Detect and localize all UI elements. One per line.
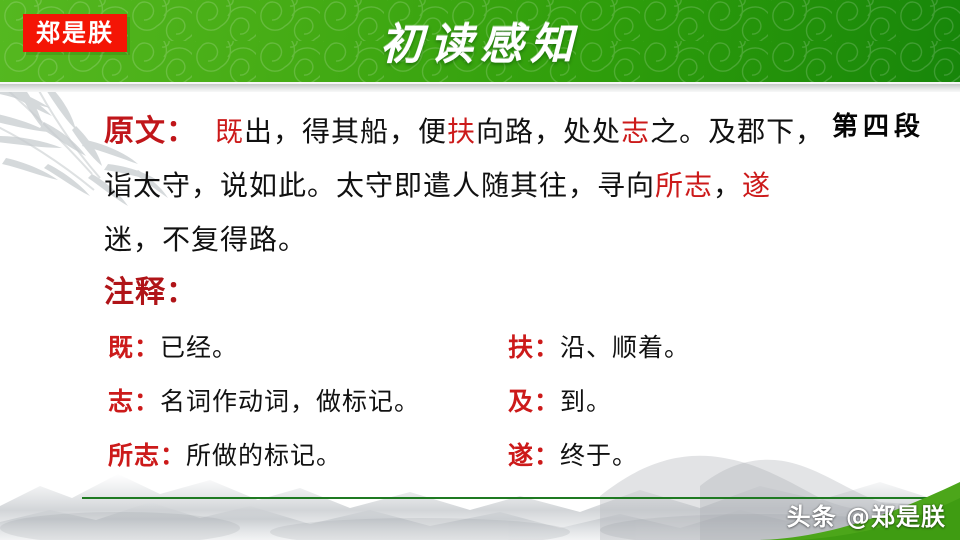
segment-badge: 第四段 (832, 106, 925, 143)
notes-list: 既：已经。 扶：沿、顺着。 志：名词作动词，做标记。 及：到。 所志：所做的标记… (0, 324, 960, 486)
text-run-red: 扶 (447, 115, 476, 148)
note-colon: ： (134, 387, 160, 416)
logo-badge: 郑是朕 (23, 14, 127, 52)
text-run-black: 诣太守，说如此。太守即遣人随其往，寻向 (104, 169, 655, 202)
note-item: 扶：沿、顺着。 (508, 324, 690, 372)
note-gloss: 沿、顺着。 (560, 333, 690, 362)
note-row: 志：名词作动词，做标记。 及：到。 (0, 378, 960, 432)
content-area: 原文：既出，得其船，便扶向路，处处志之。及郡下， 诣太守，说如此。太守即遣人随其… (0, 92, 960, 492)
note-colon: ： (534, 387, 560, 416)
text-run-red: 遂 (742, 169, 771, 202)
note-row: 所志：所做的标记。 遂：终于。 (0, 432, 960, 486)
note-gloss: 到。 (560, 387, 612, 416)
original-text-line-2: 诣太守，说如此。太守即遣人随其往，寻向所志，遂 (104, 159, 904, 213)
original-text-line-3: 迷，不复得路。 (104, 213, 904, 267)
text-run-red: 志 (621, 115, 650, 148)
note-term: 所志 (108, 441, 160, 470)
note-gloss: 已经。 (160, 333, 238, 362)
note-gloss: 所做的标记。 (186, 441, 342, 470)
notes-label: 注释： (104, 267, 197, 311)
note-colon: ： (134, 333, 160, 362)
text-run-black: 之。及郡下， (650, 115, 824, 148)
note-term: 既 (108, 333, 134, 362)
note-colon: ： (534, 333, 560, 362)
text-run-black: 向路，处处 (476, 115, 621, 148)
original-line-3-text: 迷，不复得路。 (104, 223, 307, 256)
note-item: 及：到。 (508, 378, 612, 426)
watermark-text: 头条 @郑是朕 (787, 497, 946, 532)
note-colon: ： (534, 441, 560, 470)
header-band: 初读感知 郑是朕 (0, 0, 960, 82)
text-run-red: 既 (215, 115, 244, 148)
note-term: 扶 (508, 333, 534, 362)
text-run-black: 出，得其船，便 (244, 115, 447, 148)
original-text-line-1: 原文：既出，得其船，便扶向路，处处志之。及郡下， (104, 105, 904, 159)
text-run-red: 所志 (655, 169, 713, 202)
slide-root: 初读感知 郑是朕 原文：既出，得其船，便扶向路，处处志之。及郡下， 诣太守，说如… (0, 0, 960, 540)
header-divider (0, 82, 960, 92)
text-run-black: ， (713, 169, 742, 202)
note-term: 志 (108, 387, 134, 416)
original-line-1-text: 既出，得其船，便扶向路，处处志之。及郡下， (215, 115, 824, 148)
note-item: 所志：所做的标记。 (108, 432, 342, 480)
note-item: 既：已经。 (108, 324, 238, 372)
note-item: 志：名词作动词，做标记。 (108, 378, 420, 426)
page-title: 初读感知 (0, 0, 960, 82)
note-term: 及 (508, 387, 534, 416)
original-line-2-text: 诣太守，说如此。太守即遣人随其往，寻向所志，遂 (104, 169, 771, 202)
note-item: 遂：终于。 (508, 432, 638, 480)
note-term: 遂 (508, 441, 534, 470)
note-gloss: 名词作动词，做标记。 (160, 387, 420, 416)
note-colon: ： (160, 441, 186, 470)
note-row: 既：已经。 扶：沿、顺着。 (0, 324, 960, 378)
original-text-label: 原文： (104, 114, 197, 149)
note-gloss: 终于。 (560, 441, 638, 470)
